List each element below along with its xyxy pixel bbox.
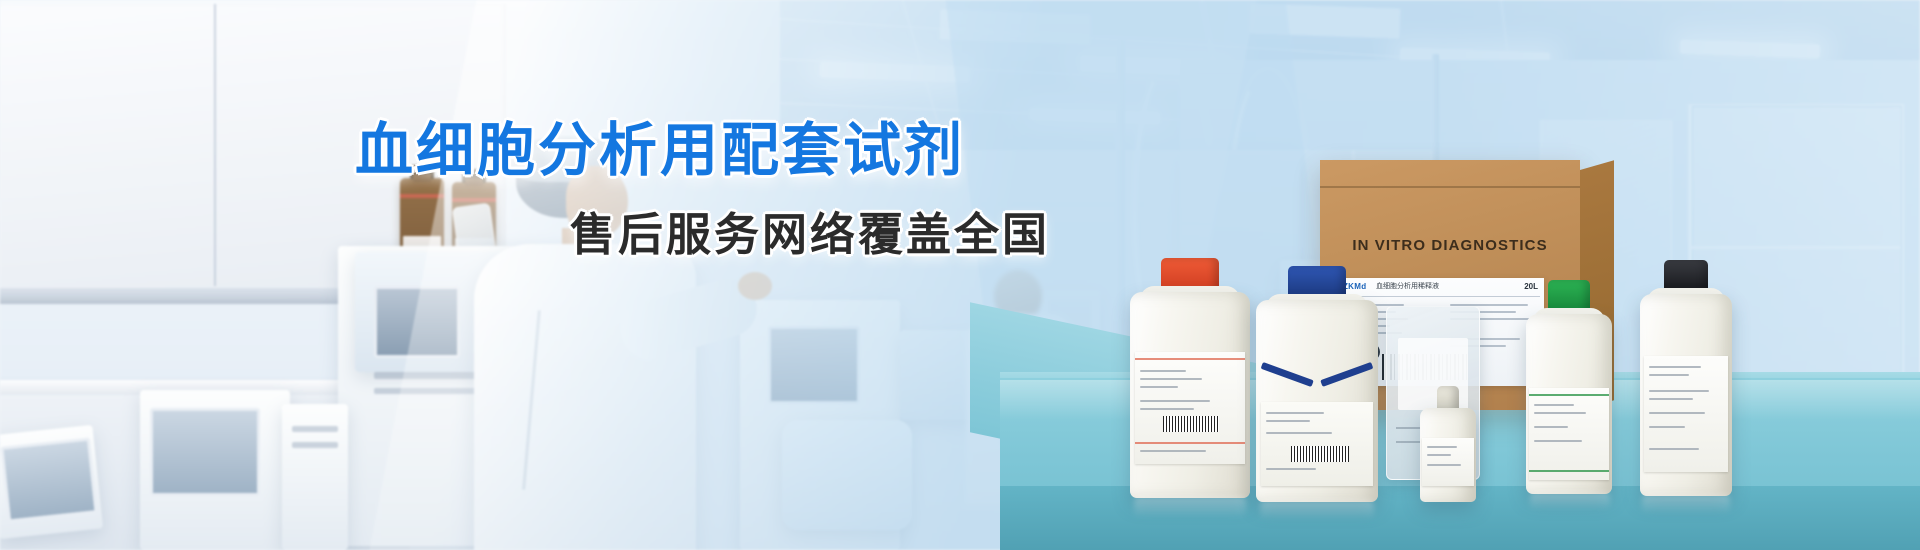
bottle-label (1529, 388, 1608, 480)
bottle-label (1261, 402, 1373, 486)
label-product-name: 血细胞分析用稀释液 (1376, 283, 1439, 290)
bottle-barcode (1163, 416, 1219, 432)
hero-banner: IN VITRO DIAGNOSTICS ZKMd 血细胞分析用稀释液 20L … (0, 0, 1920, 550)
product-reflection (1260, 500, 1374, 520)
product-reflection (1642, 494, 1730, 514)
bottle-blue-cap (1256, 266, 1378, 502)
bottle-label (1422, 438, 1474, 486)
product-reflection (1530, 492, 1610, 510)
carton-text: IN VITRO DIAGNOSTICS (1320, 238, 1580, 253)
bottle-black-cap (1640, 260, 1732, 496)
bottle-green-cap (1526, 280, 1612, 494)
carton-seam (1320, 186, 1580, 188)
bottle-barcode (1291, 446, 1349, 462)
bottle-label (1135, 352, 1245, 464)
bottle-chevron-stripe (1256, 362, 1378, 392)
product-reflection (1134, 496, 1246, 518)
product-group: IN VITRO DIAGNOSTICS ZKMd 血细胞分析用稀释液 20L … (1140, 200, 1900, 530)
bottle-red-cap (1130, 258, 1250, 498)
bottle-small-white (1420, 386, 1476, 502)
bottle-label (1644, 356, 1729, 472)
